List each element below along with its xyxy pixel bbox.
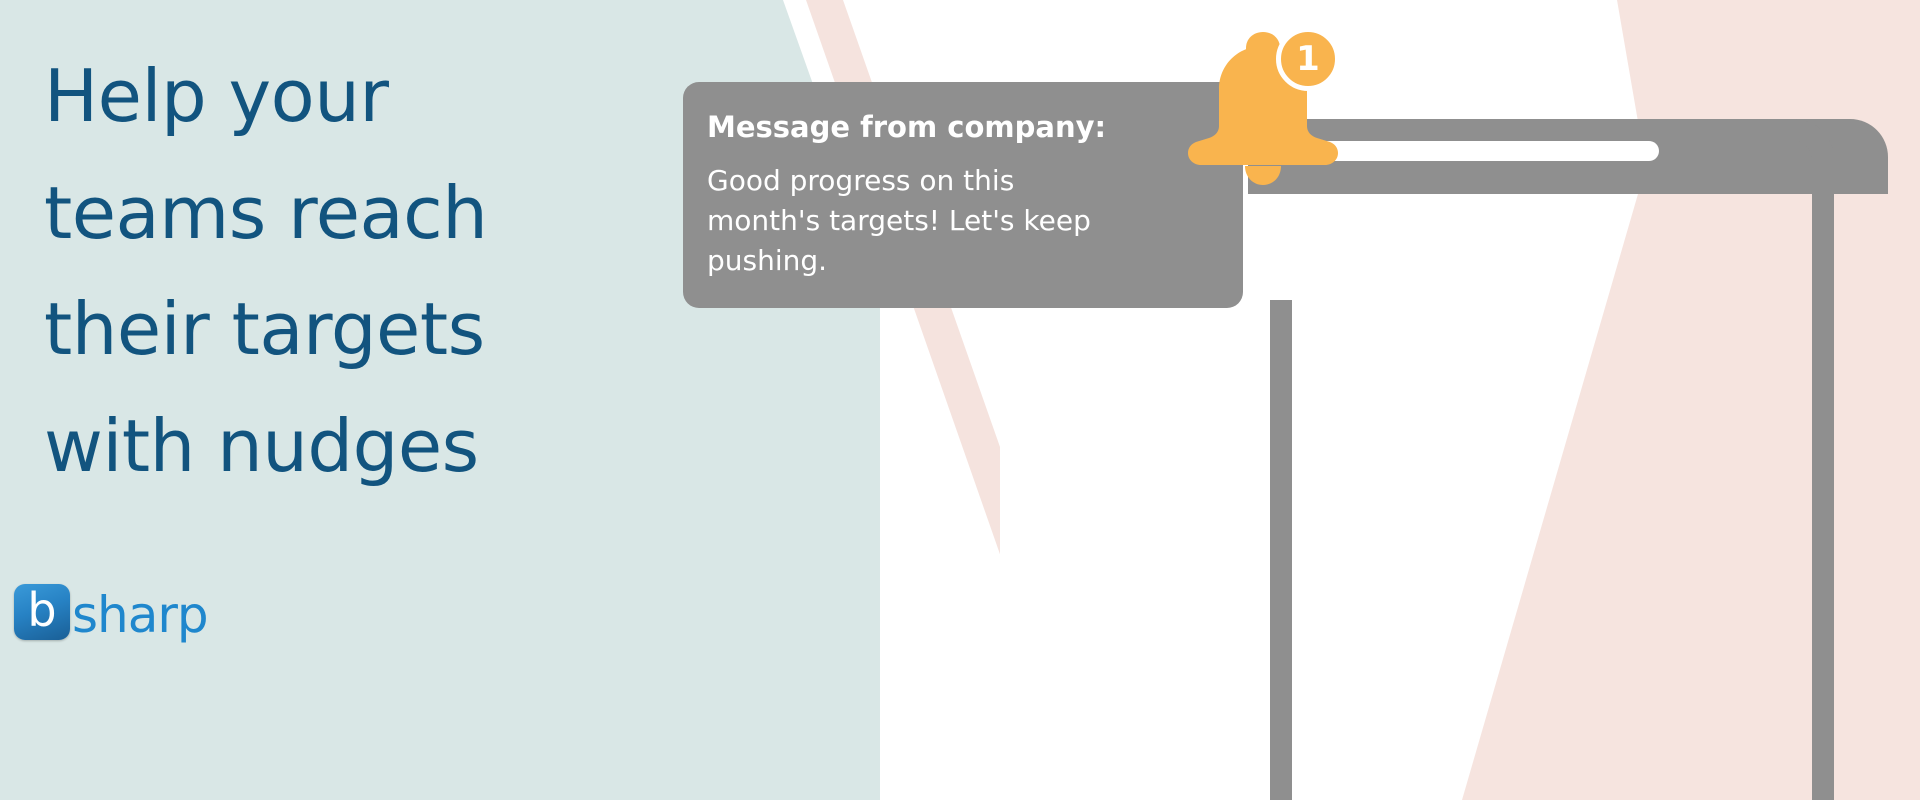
frame-right-edge (1812, 157, 1834, 800)
notification-body-line-2: month's targets! Let's keep (707, 204, 1091, 237)
notification-body-line-3: pushing. (707, 244, 827, 277)
notification-body: Good progress on this month's targets! L… (707, 161, 1211, 282)
banner-canvas: Help your teams reach their targets with… (0, 0, 1920, 800)
bsharp-logo[interactable]: b sharp (14, 584, 208, 640)
notification-bell[interactable]: 1 (1178, 16, 1348, 186)
notification-body-line-1: Good progress on this (707, 164, 1014, 197)
notification-card[interactable]: Message from company: Good progress on t… (683, 82, 1243, 308)
bsharp-logo-letter: b (27, 587, 56, 633)
headline-line-2: teams reach (44, 155, 664, 272)
bsharp-logo-wordmark: sharp (72, 590, 208, 640)
headline-line-4: with nudges (44, 388, 664, 505)
notification-title: Message from company: (707, 110, 1211, 145)
bsharp-logo-mark: b (14, 584, 70, 640)
headline-line-3: their targets (44, 271, 664, 388)
headline-line-1: Help your (44, 38, 664, 155)
page-title: Help your teams reach their targets with… (44, 38, 664, 505)
notification-badge: 1 (1276, 27, 1340, 91)
notification-badge-count: 1 (1296, 42, 1320, 76)
frame-stem (1270, 300, 1292, 800)
